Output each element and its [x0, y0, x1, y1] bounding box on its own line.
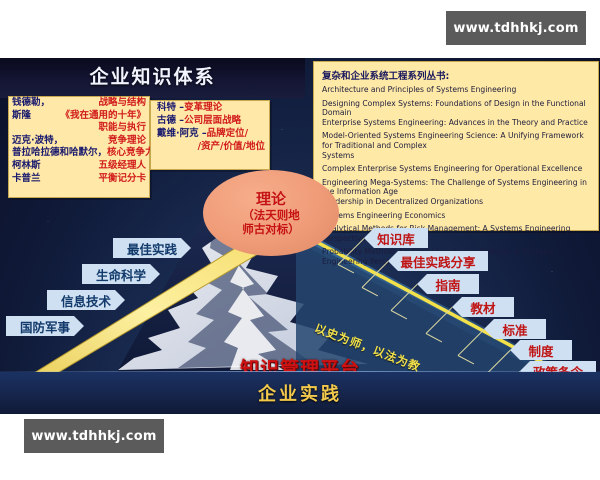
strategy-row-concept: /资产/价值/地位 — [198, 141, 265, 152]
theory-row-concept: 竞争理论 — [108, 135, 146, 146]
theory-row-author: 迈克·波特， — [9, 135, 63, 148]
management-theory-list: 钱德勒，战略与结构斯隆《我在通用的十年》职能与执行迈克·波特，竞争理论普拉哈拉德… — [9, 97, 149, 185]
domain-label-1: 生命科学 — [82, 264, 160, 284]
theory-row-author: 斯隆 — [9, 110, 31, 123]
panel-book-series: 复杂和企业系统工程系列丛书: Architecture and Principl… — [313, 61, 599, 231]
theory-row-concept: 平衡记分卡 — [98, 173, 146, 184]
strategy-row-concept: 变革理论 — [184, 102, 222, 113]
theory-row-concept: 《我在通用的十年》 — [60, 110, 146, 121]
panel-strategy-theories: 科特 –变革理论古德 –公司层面战略戴维·阿克 –品牌定位//资产/价值/地位 — [150, 100, 270, 170]
page-title: 企业知识体系 — [0, 62, 305, 89]
watermark-bottom: www.tdhhkj.com — [24, 419, 164, 453]
theory-row: 迈克·波特，竞争理论 — [9, 135, 149, 148]
book-title: Complex Enterprise Systems Engineering f… — [314, 164, 598, 174]
theory-row-author: 卡普兰 — [9, 173, 41, 186]
book-title: Engineering Mega-Systems: The Challenge … — [314, 178, 598, 197]
theory-ellipse-line2: （法天则地 — [242, 208, 300, 222]
book-title: Enterprise Systems Engineering: Advances… — [314, 118, 598, 128]
artifact-label-3: 教材 — [452, 297, 514, 317]
watermark-top: www.tdhhkj.com — [446, 11, 586, 45]
theory-row: 卡普兰平衡记分卡 — [9, 173, 149, 186]
panel-management-theories: 钱德勒，战略与结构斯隆《我在通用的十年》职能与执行迈克·波特，竞争理论普拉哈拉德… — [8, 96, 150, 198]
theory-ellipse-line1: 理论 — [256, 191, 286, 208]
watermark-top-text: www.tdhhkj.com — [453, 21, 578, 36]
theory-ellipse-line3: 师古对标） — [242, 222, 300, 236]
book-title: Analytical Methods for Risk Management: … — [314, 224, 598, 243]
artifact-label-5: 制度 — [510, 340, 572, 360]
theory-row: 柯林斯五级经理人 — [9, 160, 149, 173]
strategy-row-author: 戴维·阿克 – — [157, 128, 207, 139]
domain-label-2: 信息技术 — [47, 290, 125, 310]
theory-row-author: 柯林斯 — [9, 160, 41, 173]
artifact-label-0: 知识库 — [364, 228, 428, 248]
knowledge-system-diagram: 企业知识体系 钱德勒，战略与结构斯隆《我在通用的十年》职能与执行迈克·波特，竞争… — [0, 58, 600, 414]
strategy-row: 古德 –公司层面战略 — [151, 114, 269, 127]
book-title: Architecture and Principles of Systems E… — [314, 85, 598, 95]
strategy-row-author: 古德 – — [157, 115, 184, 126]
book-series-title: 复杂和企业系统工程系列丛书: — [314, 62, 598, 85]
theory-row-author: 钱德勒， — [9, 97, 50, 110]
book-title: Systems Engineering Economics — [314, 211, 598, 221]
theory-row: 钱德勒，战略与结构 — [9, 97, 149, 110]
book-title: Model-Oriented Systems Engineering Scien… — [314, 131, 598, 150]
book-title: Leadership in Decentralized Organization… — [314, 197, 598, 207]
strategy-row: /资产/价值/地位 — [151, 140, 269, 153]
theory-row-concept: 五级经理人 — [98, 160, 146, 171]
strategy-row-author: 科特 – — [157, 102, 184, 113]
strategy-row: 戴维·阿克 –品牌定位/ — [151, 127, 269, 140]
book-title: Systems — [314, 151, 598, 161]
strategy-row-concept: 公司层面战略 — [184, 115, 241, 126]
artifact-label-4: 标准 — [484, 319, 546, 339]
watermark-bottom-text: www.tdhhkj.com — [31, 429, 156, 444]
book-series-list: Architecture and Principles of Systems E… — [314, 85, 598, 267]
theory-row-concept: 核心竞争力 — [107, 147, 155, 158]
theory-row: 职能与执行 — [9, 122, 149, 135]
strategy-theory-list: 科特 –变革理论古德 –公司层面战略戴维·阿克 –品牌定位//资产/价值/地位 — [151, 101, 269, 153]
artifact-label-2: 指南 — [417, 274, 479, 294]
bottom-bar-label: 企业实践 — [0, 380, 600, 406]
theory-row: 斯隆《我在通用的十年》 — [9, 110, 149, 123]
artifact-label-1: 最佳实践分享 — [388, 251, 488, 271]
theory-row-concept: 战略与结构 — [98, 97, 146, 108]
domain-label-0: 最佳实践 — [113, 238, 191, 258]
domain-label-3: 国防军事 — [6, 316, 84, 336]
theory-ellipse: 理论 （法天则地 师古对标） — [203, 170, 339, 256]
strategy-row: 科特 –变革理论 — [151, 101, 269, 114]
strategy-row-concept: 品牌定位/ — [207, 128, 248, 139]
book-title: Designing Complex Systems: Foundations o… — [314, 99, 598, 118]
theory-row-author: 普拉哈拉德和哈默尔， — [9, 147, 107, 160]
theory-row-concept: 职能与执行 — [98, 122, 146, 133]
